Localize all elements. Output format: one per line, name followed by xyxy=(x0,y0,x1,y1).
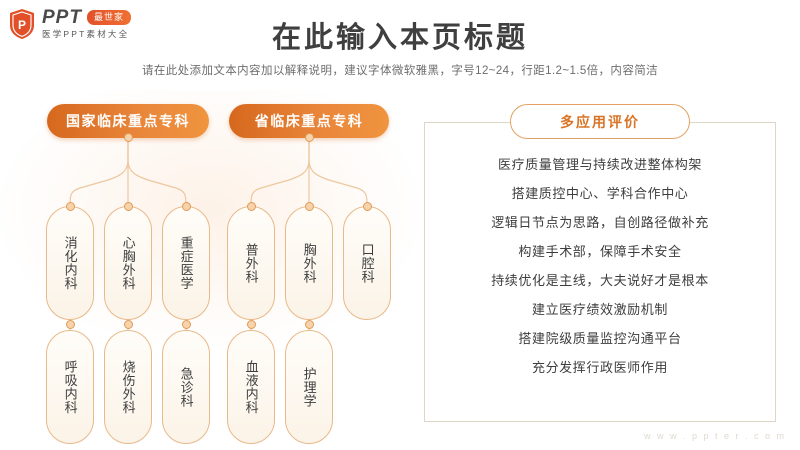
trunk-dot-provincial xyxy=(305,133,314,142)
dept-card-jizhenke[interactable]: 急诊科 xyxy=(162,330,210,444)
card-dot-top-6 xyxy=(363,202,372,211)
panel-line: 构建手术部，保障手术安全 xyxy=(518,237,681,266)
panel-line: 充分发挥行政医师作用 xyxy=(532,353,668,382)
dept-card-label: 急诊科 xyxy=(178,367,193,408)
trunk-dot-national xyxy=(124,133,133,142)
panel-line: 搭建质控中心、学科合作中心 xyxy=(512,179,689,208)
card-joint-dot-2 xyxy=(124,320,133,329)
dept-card-puwaike[interactable]: 普外科 xyxy=(227,206,275,320)
dept-card-xueyeneike[interactable]: 血液内科 xyxy=(227,330,275,444)
dept-card-label: 心胸外科 xyxy=(120,236,135,290)
card-dot-top-5 xyxy=(305,202,314,211)
panel-title-badge: 多应用评价 xyxy=(510,104,690,139)
dept-card-hulixue[interactable]: 护理学 xyxy=(285,330,333,444)
panel-line: 搭建院级质量监控沟通平台 xyxy=(518,324,681,353)
panel-line: 医疗质量管理与持续改进整体构架 xyxy=(498,150,702,179)
dept-card-label: 血液内科 xyxy=(243,360,258,414)
dept-card-kouqiangke[interactable]: 口腔科 xyxy=(343,206,391,320)
dept-card-shaoshangwaike[interactable]: 烧伤外科 xyxy=(104,330,152,444)
dept-card-label: 普外科 xyxy=(243,243,258,284)
dept-card-label: 护理学 xyxy=(301,367,316,408)
card-joint-dot-3 xyxy=(182,320,191,329)
site-watermark: w w w . p p t e r . c o m xyxy=(644,431,786,441)
dept-card-label: 呼吸内科 xyxy=(62,360,77,414)
page-subtitle: 请在此处添加文本内容加以解释说明，建议字体微软雅黑，字号12~24，行距1.2~… xyxy=(0,62,800,78)
dept-card-huxineike[interactable]: 呼吸内科 xyxy=(46,330,94,444)
panel-line-list: 医疗质量管理与持续改进整体构架 搭建质控中心、学科合作中心 逻辑日节点为思路，自… xyxy=(424,150,776,382)
dept-card-xinxiongwaike[interactable]: 心胸外科 xyxy=(104,206,152,320)
panel-line: 持续优化是主线，大夫说好才是根本 xyxy=(491,266,709,295)
page-title: 在此输入本页标题 xyxy=(0,14,800,56)
dept-card-label: 重症医学 xyxy=(178,236,193,290)
card-dot-top-3 xyxy=(182,202,191,211)
dept-card-label: 烧伤外科 xyxy=(120,360,135,414)
dept-card-label: 胸外科 xyxy=(301,243,316,284)
card-dot-top-1 xyxy=(66,202,75,211)
dept-card-zhongzhengyixue[interactable]: 重症医学 xyxy=(162,206,210,320)
dept-card-label: 口腔科 xyxy=(359,243,374,284)
card-dot-top-4 xyxy=(247,202,256,211)
panel-line: 建立医疗绩效激励机制 xyxy=(532,295,668,324)
card-joint-dot-1 xyxy=(66,320,75,329)
dept-card-xiaohuaneike[interactable]: 消化内科 xyxy=(46,206,94,320)
card-joint-dot-4 xyxy=(247,320,256,329)
dept-card-xiongwaike[interactable]: 胸外科 xyxy=(285,206,333,320)
card-joint-dot-5 xyxy=(305,320,314,329)
panel-line: 逻辑日节点为思路，自创路径做补充 xyxy=(491,208,709,237)
dept-card-label: 消化内科 xyxy=(62,236,77,290)
card-dot-top-2 xyxy=(124,202,133,211)
